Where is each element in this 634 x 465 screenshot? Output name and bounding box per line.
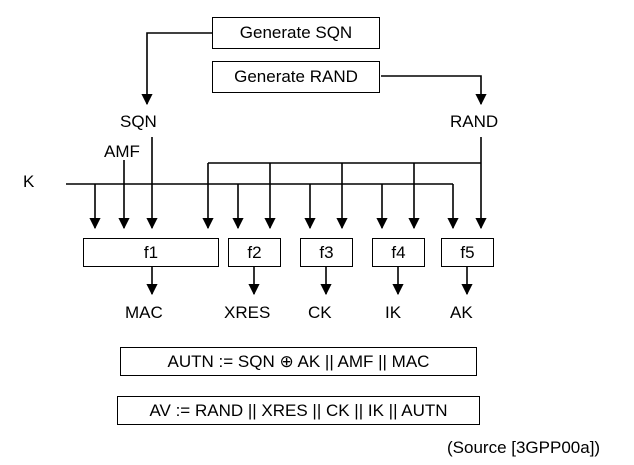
generate-rand-box[interactable]: Generate RAND — [212, 61, 380, 93]
function-box-f1[interactable]: f1 — [83, 238, 219, 267]
wire-gen-sqn-to-sqn — [147, 33, 212, 104]
generate-sqn-label: Generate SQN — [240, 23, 352, 43]
wire-gen-rand-to-rand — [381, 76, 481, 104]
av-formula-label: AV := RAND || XRES || CK || IK || AUTN — [149, 401, 447, 421]
f2-label: f2 — [247, 243, 261, 263]
av-formula-box: AV := RAND || XRES || CK || IK || AUTN — [117, 396, 480, 425]
source-caption: (Source [3GPP00a]) — [447, 438, 600, 458]
function-box-f3[interactable]: f3 — [300, 238, 353, 267]
f1-label: f1 — [144, 243, 158, 263]
k-label: K — [23, 172, 34, 192]
function-box-f5[interactable]: f5 — [441, 238, 494, 267]
sqn-label: SQN — [120, 112, 157, 132]
autn-formula-label: AUTN := SQN ⊕ AK || AMF || MAC — [168, 352, 430, 372]
generate-sqn-box[interactable]: Generate SQN — [212, 17, 380, 49]
xres-label: XRES — [224, 303, 270, 323]
function-box-f4[interactable]: f4 — [372, 238, 425, 267]
ck-label: CK — [308, 303, 332, 323]
ak-label: AK — [450, 303, 473, 323]
autn-formula-box: AUTN := SQN ⊕ AK || AMF || MAC — [120, 347, 477, 376]
function-box-f2[interactable]: f2 — [228, 238, 281, 267]
generate-rand-label: Generate RAND — [234, 67, 358, 87]
authentication-vector-diagram: Generate SQN Generate RAND SQN AMF K RAN… — [0, 0, 634, 465]
f4-label: f4 — [391, 243, 405, 263]
rand-label: RAND — [450, 112, 498, 132]
ik-label: IK — [385, 303, 401, 323]
amf-label: AMF — [104, 142, 140, 162]
f3-label: f3 — [319, 243, 333, 263]
mac-label: MAC — [125, 303, 163, 323]
f5-label: f5 — [460, 243, 474, 263]
